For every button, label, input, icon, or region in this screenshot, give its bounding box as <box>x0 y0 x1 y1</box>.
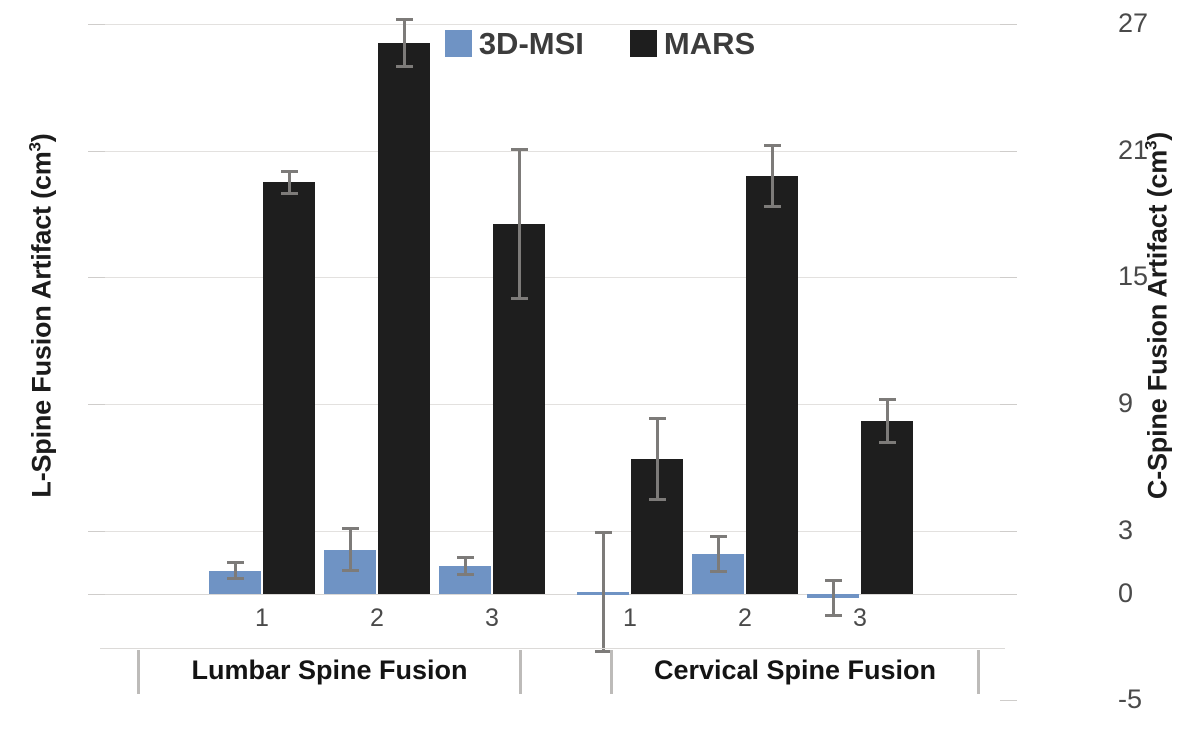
error-bar-lumbar-spine-fusion-2-3d-msi <box>349 527 352 573</box>
error-cap-bottom <box>281 192 298 195</box>
y-axis-right-tick-mark-neg5 <box>1000 700 1017 701</box>
error-cap-bottom <box>511 297 528 300</box>
y-axis-left-title-close: ) <box>27 133 57 142</box>
error-cap-bottom <box>457 573 474 576</box>
y-axis-right-tick-0: 0 <box>1118 580 1198 607</box>
gridline-left-30 <box>105 404 1000 405</box>
y-axis-right-tick-mark-0 <box>1000 594 1017 595</box>
x-axis-tick-label-3: 1 <box>600 606 660 631</box>
y-axis-right-title-text: C-Spine Fusion Artifact (cm <box>1143 150 1173 499</box>
bar-lumbar-spine-fusion-2-mars <box>378 43 430 594</box>
error-cap-top <box>457 556 474 559</box>
error-bar-cervical-spine-fusion-2-mars <box>771 144 774 207</box>
gridline-left-50 <box>105 277 1000 278</box>
bar-cervical-spine-fusion-2-mars <box>746 176 798 594</box>
bar-cervical-spine-fusion-3-mars <box>861 421 913 594</box>
y-axis-left-tick-mark-90 <box>88 24 105 25</box>
y-axis-left-tick-mark-0 <box>88 594 105 595</box>
y-axis-right-tick-15: 15 <box>1118 263 1198 290</box>
error-cap-bottom <box>710 570 727 573</box>
x-axis-tick-label-1: 2 <box>347 606 407 631</box>
error-cap-top <box>825 579 842 582</box>
error-bar-cervical-spine-fusion-2-3d-msi <box>717 535 720 573</box>
y-axis-right-tick-mark-9 <box>1000 404 1017 405</box>
error-cap-top <box>396 18 413 21</box>
y-axis-left-tick-mark-30 <box>88 404 105 405</box>
x-axis-tick-label-4: 2 <box>715 606 775 631</box>
error-cap-bottom <box>764 205 781 208</box>
y-axis-right-tick-9: 9 <box>1118 390 1198 417</box>
group-label-cervical: Cervical Spine Fusion <box>610 655 980 686</box>
y-axis-right-tick-21: 21 <box>1118 137 1198 164</box>
error-cap-top <box>342 527 359 530</box>
x-axis-tick-label-2: 3 <box>462 606 522 631</box>
group-separator-rule <box>100 648 1005 649</box>
y-axis-left-tick-mark-70 <box>88 151 105 152</box>
y-axis-left-title: L-Spine Fusion Artifact (cm3) <box>27 106 58 526</box>
x-axis-tick-labels: 123123 <box>105 600 1000 640</box>
error-cap-top <box>281 170 298 173</box>
error-bar-cervical-spine-fusion-3-mars <box>886 398 889 444</box>
y-axis-right-tick-mark-27 <box>1000 24 1017 25</box>
error-bar-lumbar-spine-fusion-1-3d-msi <box>234 561 237 580</box>
y-axis-right-tick-mark-3 <box>1000 531 1017 532</box>
plot-area: 90705030100272115930-5 <box>105 24 1000 594</box>
error-bar-lumbar-spine-fusion-3-mars <box>518 148 521 300</box>
error-cap-bottom <box>595 650 612 653</box>
y-axis-right-tick-3: 3 <box>1118 517 1198 544</box>
chart-root: L-Spine Fusion Artifact (cm3) C-Spine Fu… <box>0 0 1200 750</box>
error-cap-top <box>227 561 244 564</box>
error-cap-top <box>649 417 666 420</box>
error-bar-cervical-spine-fusion-1-mars <box>656 417 659 501</box>
gridline-left-70 <box>105 151 1000 152</box>
error-bar-lumbar-spine-fusion-2-mars <box>403 18 406 69</box>
error-bar-lumbar-spine-fusion-3-3d-msi <box>464 556 467 576</box>
error-cap-top <box>511 148 528 151</box>
error-cap-bottom <box>342 569 359 572</box>
x-axis-tick-label-0: 1 <box>232 606 292 631</box>
y-axis-right-title: C-Spine Fusion Artifact (cm3) <box>1143 106 1174 526</box>
error-cap-bottom <box>227 577 244 580</box>
y-axis-left-title-text: L-Spine Fusion Artifact (cm <box>27 151 57 497</box>
error-cap-top <box>710 535 727 538</box>
gridline-left-0 <box>105 594 1000 595</box>
y-axis-left-tick-mark-50 <box>88 277 105 278</box>
y-axis-right-tick-neg5: -5 <box>1118 686 1198 713</box>
gridline-left-90 <box>105 24 1000 25</box>
error-cap-bottom <box>879 441 896 444</box>
y-axis-right-tick-27: 27 <box>1118 10 1198 37</box>
error-cap-top <box>764 144 781 147</box>
y-axis-right-tick-mark-15 <box>1000 277 1017 278</box>
error-cap-top <box>879 398 896 401</box>
error-cap-bottom <box>649 498 666 501</box>
y-axis-left-tick-mark-10 <box>88 531 105 532</box>
y-axis-left-title-superscript: 3 <box>26 142 45 151</box>
y-axis-right-tick-mark-21 <box>1000 151 1017 152</box>
error-cap-bottom <box>396 65 413 68</box>
error-cap-top <box>595 531 612 534</box>
bar-lumbar-spine-fusion-1-mars <box>263 182 315 594</box>
x-axis-tick-label-5: 3 <box>830 606 890 631</box>
group-label-lumbar: Lumbar Spine Fusion <box>137 655 522 686</box>
error-bar-lumbar-spine-fusion-1-mars <box>288 170 291 195</box>
